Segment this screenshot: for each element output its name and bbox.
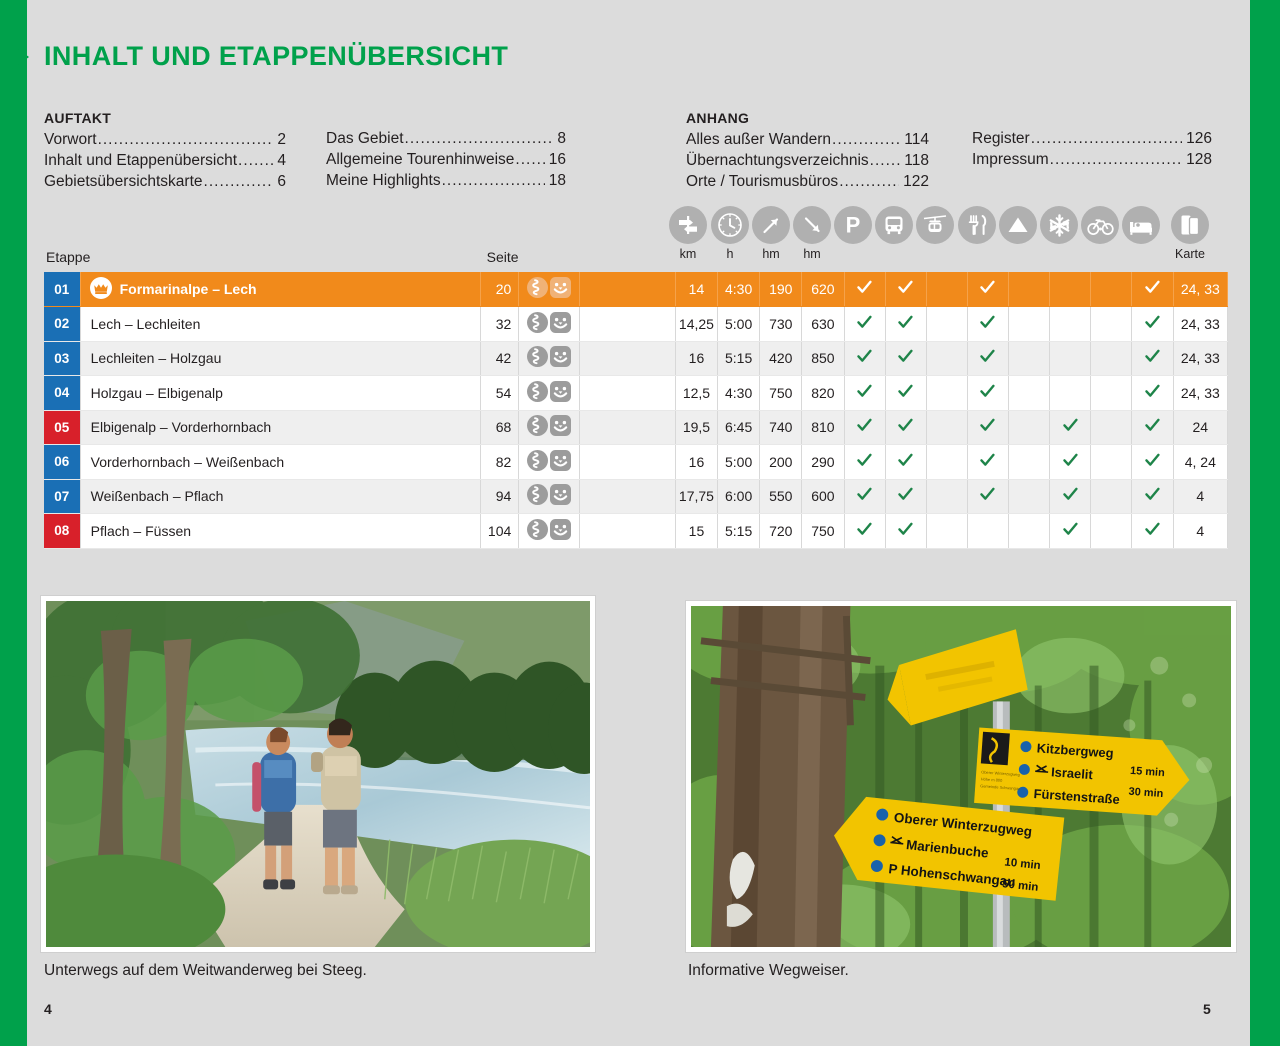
toc-item-page: 8 bbox=[554, 128, 566, 149]
check-icon bbox=[1145, 453, 1160, 468]
winding-path-icon bbox=[527, 381, 548, 405]
availability-restaurant bbox=[967, 341, 1008, 376]
stage-page-number: 20 bbox=[481, 272, 519, 307]
stage-symbols-cell bbox=[519, 410, 579, 445]
toc-leader-dots: ........................................… bbox=[204, 171, 274, 192]
stage-name-label: Elbigenalp – Vorderhornbach bbox=[91, 419, 272, 435]
photo-caption-left: Unterwegs auf dem Weitwanderweg bei Stee… bbox=[44, 962, 367, 980]
check-icon bbox=[980, 280, 995, 295]
toc-leader-dots: ........................................… bbox=[839, 171, 899, 192]
toc-item: Meine Highlights........................… bbox=[326, 170, 566, 191]
availability-bicycle bbox=[1091, 272, 1132, 307]
empty-spacer-cell bbox=[579, 272, 675, 307]
map-reference-value: 24, 33 bbox=[1173, 341, 1227, 376]
availability-bed bbox=[1132, 307, 1173, 342]
stage-name-cell[interactable]: Formarinalpe – Lech bbox=[80, 272, 481, 307]
toc-leader-dots: ........................................… bbox=[1031, 128, 1182, 149]
bicycle-icon bbox=[1081, 206, 1119, 244]
descent-hm-value: 850 bbox=[802, 341, 844, 376]
availability-restaurant bbox=[967, 479, 1008, 514]
map-reference-value: 4, 24 bbox=[1173, 445, 1227, 480]
stage-number-badge: 02 bbox=[44, 307, 80, 342]
toc-item-label[interactable]: Inhalt und Etappenübersicht bbox=[44, 150, 237, 171]
stage-symbols-cell bbox=[519, 341, 579, 376]
ascent-hm-value: 550 bbox=[760, 479, 802, 514]
stage-symbols-cell bbox=[519, 307, 579, 342]
toc-item: Vorwort.................................… bbox=[44, 129, 286, 150]
stage-name-cell[interactable]: Vorderhornbach – Weißenbach bbox=[80, 445, 481, 480]
toc-item-label[interactable]: Impressum bbox=[972, 149, 1049, 170]
stage-name-cell[interactable]: Elbigenalp – Vorderhornbach bbox=[80, 410, 481, 445]
availability-parking bbox=[844, 341, 885, 376]
check-icon bbox=[898, 453, 913, 468]
family-friendly-smiley-icon bbox=[550, 277, 571, 301]
table-header-row: Etappe Seite bbox=[44, 240, 1228, 272]
toc-auftakt-column-2: Das Gebiet..............................… bbox=[326, 128, 566, 191]
table-row[interactable]: 02Lech – Lechleiten3214,255:0073063024, … bbox=[44, 307, 1228, 342]
crown-badge-icon bbox=[90, 277, 112, 302]
stage-page-number: 104 bbox=[481, 514, 519, 549]
distance-km-value: 19,5 bbox=[675, 410, 717, 445]
toc-item-label[interactable]: Orte / Tourismusbüros bbox=[686, 171, 838, 192]
availability-bus bbox=[885, 479, 926, 514]
legend-cell-restaurant bbox=[956, 206, 998, 244]
toc-item-label[interactable]: Register bbox=[972, 128, 1030, 149]
toc-item-page: 6 bbox=[274, 171, 286, 192]
availability-bicycle bbox=[1091, 514, 1132, 549]
check-icon bbox=[980, 315, 995, 330]
check-icon bbox=[898, 418, 913, 433]
table-row[interactable]: 04Holzgau – Elbigenalp5412,54:3075082024… bbox=[44, 376, 1228, 411]
distance-km-value: 14,25 bbox=[675, 307, 717, 342]
toc-item-page: 126 bbox=[1183, 128, 1212, 149]
stage-number-badge: 04 bbox=[44, 376, 80, 411]
stage-name-cell[interactable]: Lech – Lechleiten bbox=[80, 307, 481, 342]
check-icon bbox=[980, 453, 995, 468]
availability-mountain-hut bbox=[1009, 376, 1050, 411]
availability-bed bbox=[1132, 514, 1173, 549]
check-icon bbox=[980, 418, 995, 433]
empty-spacer-cell bbox=[579, 445, 675, 480]
duration-h-value: 5:00 bbox=[718, 307, 760, 342]
toc-leader-dots: ........................................… bbox=[442, 170, 545, 191]
stage-page-number: 94 bbox=[481, 479, 519, 514]
family-friendly-smiley-icon bbox=[550, 519, 571, 543]
winding-path-icon bbox=[527, 346, 548, 370]
empty-spacer-cell bbox=[579, 376, 675, 411]
check-icon bbox=[1145, 349, 1160, 364]
availability-bed bbox=[1132, 272, 1173, 307]
check-icon bbox=[857, 349, 872, 364]
toc-auftakt-column-1: AUFTAKT Vorwort.........................… bbox=[44, 110, 286, 192]
descent-hm-value: 810 bbox=[802, 410, 844, 445]
descent-hm-value: 620 bbox=[802, 272, 844, 307]
availability-mountain-hut bbox=[1009, 410, 1050, 445]
stage-overview-table: Etappe Seite 01Formarinalpe – Lech20144:… bbox=[44, 240, 1228, 549]
table-row[interactable]: 05Elbigenalp – Vorderhornbach6819,56:457… bbox=[44, 410, 1228, 445]
availability-cable-car bbox=[926, 479, 967, 514]
descent-hm-value: 600 bbox=[802, 479, 844, 514]
availability-bicycle bbox=[1091, 410, 1132, 445]
availability-bed bbox=[1132, 376, 1173, 411]
availability-bed bbox=[1132, 479, 1173, 514]
toc-item-page: 2 bbox=[274, 129, 286, 150]
map-reference-value: 4 bbox=[1173, 479, 1227, 514]
availability-bus bbox=[885, 445, 926, 480]
check-icon bbox=[1145, 487, 1160, 502]
legend-cell-mountain-hut bbox=[997, 206, 1039, 244]
availability-bus bbox=[885, 341, 926, 376]
availability-restaurant bbox=[967, 272, 1008, 307]
toc-item: Allgemeine Tourenhinweise...............… bbox=[326, 149, 566, 170]
toc-item: Register................................… bbox=[972, 128, 1212, 149]
stage-name-label: Lech – Lechleiten bbox=[91, 316, 201, 332]
duration-h-value: 6:00 bbox=[718, 479, 760, 514]
check-icon bbox=[980, 384, 995, 399]
toc-anhang-column-2: Register................................… bbox=[972, 128, 1212, 170]
title-arrow-icon bbox=[11, 44, 29, 70]
availability-bicycle bbox=[1091, 341, 1132, 376]
bus-icon bbox=[875, 206, 913, 244]
toc-item: Impressum...............................… bbox=[972, 149, 1212, 170]
winding-path-icon bbox=[527, 312, 548, 336]
toc-item-page: 114 bbox=[901, 129, 929, 150]
toc-item-label[interactable]: Gebietsübersichtskarte bbox=[44, 171, 203, 192]
availability-bicycle bbox=[1091, 376, 1132, 411]
availability-restaurant bbox=[967, 445, 1008, 480]
availability-snowflake bbox=[1050, 445, 1091, 480]
availability-bus bbox=[885, 376, 926, 411]
descent-hm-value: 630 bbox=[802, 307, 844, 342]
availability-mountain-hut bbox=[1009, 341, 1050, 376]
stage-symbols-cell bbox=[519, 376, 579, 411]
stage-name-cell[interactable]: Weißenbach – Pflach bbox=[80, 479, 481, 514]
availability-restaurant bbox=[967, 410, 1008, 445]
check-icon bbox=[857, 418, 872, 433]
stage-number-badge: 07 bbox=[44, 479, 80, 514]
legend-cell-bus bbox=[873, 206, 915, 244]
check-icon bbox=[857, 487, 872, 502]
page-title: INHALT UND ETAPPENÜBERSICHT bbox=[44, 41, 508, 72]
stage-page-number: 68 bbox=[481, 410, 519, 445]
duration-h-value: 6:45 bbox=[718, 410, 760, 445]
availability-bed bbox=[1132, 410, 1173, 445]
stage-name-cell[interactable]: Holzgau – Elbigenalp bbox=[80, 376, 481, 411]
check-icon bbox=[1145, 315, 1160, 330]
check-icon bbox=[1145, 280, 1160, 295]
toc-item-label[interactable]: Vorwort bbox=[44, 129, 97, 150]
check-icon bbox=[857, 384, 872, 399]
availability-bus bbox=[885, 307, 926, 342]
distance-km-value: 14 bbox=[675, 272, 717, 307]
availability-bed bbox=[1132, 445, 1173, 480]
stage-name-cell[interactable]: Lechleiten – Holzgau bbox=[80, 341, 481, 376]
legend-cell-snowflake bbox=[1038, 206, 1080, 244]
check-icon bbox=[980, 349, 995, 364]
right-green-bar bbox=[1250, 0, 1280, 1046]
availability-restaurant bbox=[967, 514, 1008, 549]
toc-anhang-column-1: ANHANG Alles außer Wandern..............… bbox=[686, 110, 929, 192]
toc-leader-dots: ........................................… bbox=[832, 129, 900, 150]
check-icon bbox=[857, 280, 872, 295]
stage-page-number: 42 bbox=[481, 341, 519, 376]
family-friendly-smiley-icon bbox=[550, 381, 571, 405]
stage-number-badge: 05 bbox=[44, 410, 80, 445]
family-friendly-smiley-icon bbox=[550, 415, 571, 439]
stage-name-label: Lechleiten – Holzgau bbox=[91, 350, 222, 366]
stage-page-number: 32 bbox=[481, 307, 519, 342]
availability-bicycle bbox=[1091, 307, 1132, 342]
availability-parking bbox=[844, 272, 885, 307]
duration-h-value: 5:00 bbox=[718, 445, 760, 480]
check-icon bbox=[898, 522, 913, 537]
toc-item: Das Gebiet..............................… bbox=[326, 128, 566, 149]
ascent-hm-value: 730 bbox=[760, 307, 802, 342]
family-friendly-smiley-icon bbox=[550, 484, 571, 508]
availability-restaurant bbox=[967, 376, 1008, 411]
stage-symbols-cell bbox=[519, 445, 579, 480]
availability-mountain-hut bbox=[1009, 307, 1050, 342]
descent-hm-value: 750 bbox=[802, 514, 844, 549]
table-body: 01Formarinalpe – Lech20144:3019062024, 3… bbox=[44, 272, 1228, 548]
availability-mountain-hut bbox=[1009, 445, 1050, 480]
stage-name-label: Weißenbach – Pflach bbox=[91, 488, 224, 504]
toc-leader-dots: ........................................… bbox=[1050, 149, 1182, 170]
empty-spacer-cell bbox=[579, 341, 675, 376]
availability-snowflake bbox=[1050, 341, 1091, 376]
toc-item-page: 118 bbox=[901, 150, 929, 171]
signpost-icon bbox=[669, 206, 707, 244]
photo-caption-right: Informative Wegweiser. bbox=[688, 962, 849, 980]
svg-text:15 min: 15 min bbox=[1130, 765, 1165, 779]
check-icon bbox=[1063, 418, 1078, 433]
empty-spacer-cell bbox=[579, 479, 675, 514]
duration-h-value: 4:30 bbox=[718, 376, 760, 411]
map-reference-value: 24, 33 bbox=[1173, 376, 1227, 411]
availability-cable-car bbox=[926, 272, 967, 307]
toc-item-page: 122 bbox=[900, 171, 929, 192]
toc-item: Inhalt und Etappenübersicht.............… bbox=[44, 150, 286, 171]
check-icon bbox=[1063, 453, 1078, 468]
check-icon bbox=[1063, 487, 1078, 502]
winding-path-icon bbox=[527, 484, 548, 508]
toc-item-page: 16 bbox=[546, 149, 566, 170]
map-icon bbox=[1171, 206, 1209, 244]
distance-km-value: 15 bbox=[675, 514, 717, 549]
availability-mountain-hut bbox=[1009, 272, 1050, 307]
page-number-right: 5 bbox=[1203, 1001, 1211, 1017]
duration-h-value: 5:15 bbox=[718, 341, 760, 376]
distance-km-value: 17,75 bbox=[675, 479, 717, 514]
availability-bus bbox=[885, 272, 926, 307]
family-friendly-smiley-icon bbox=[550, 450, 571, 474]
ascent-hm-value: 750 bbox=[760, 376, 802, 411]
availability-bus bbox=[885, 514, 926, 549]
stage-number-badge: 03 bbox=[44, 341, 80, 376]
table-row[interactable]: 06Vorderhornbach – Weißenbach82165:00200… bbox=[44, 445, 1228, 480]
photo-yellow-signposts: Kitzbergweg Israelit Fürstenstraße 15 mi… bbox=[691, 606, 1231, 947]
svg-text:30 min: 30 min bbox=[1128, 786, 1163, 800]
availability-cable-car bbox=[926, 514, 967, 549]
availability-bicycle bbox=[1091, 479, 1132, 514]
distance-km-value: 16 bbox=[675, 445, 717, 480]
header-etappe: Etappe bbox=[44, 240, 481, 272]
toc-item: Orte / Tourismusbüros...................… bbox=[686, 171, 929, 192]
stage-page-number: 82 bbox=[481, 445, 519, 480]
parking-icon: P bbox=[834, 206, 872, 244]
availability-cable-car bbox=[926, 307, 967, 342]
check-icon bbox=[1063, 522, 1078, 537]
availability-snowflake bbox=[1050, 307, 1091, 342]
toc-item-page: 4 bbox=[274, 150, 286, 171]
toc-item-label[interactable]: Das Gebiet bbox=[326, 128, 404, 149]
check-icon bbox=[1145, 384, 1160, 399]
distance-km-value: 12,5 bbox=[675, 376, 717, 411]
legend-cell-bicycle bbox=[1079, 206, 1121, 244]
winding-path-icon bbox=[527, 415, 548, 439]
family-friendly-smiley-icon bbox=[550, 312, 571, 336]
check-icon bbox=[898, 280, 913, 295]
toc-auftakt-heading: AUFTAKT bbox=[44, 110, 286, 126]
cable-car-icon bbox=[916, 206, 954, 244]
toc-item-label[interactable]: Meine Highlights bbox=[326, 170, 441, 191]
toc-item-label[interactable]: Übernachtungsverzeichnis bbox=[686, 150, 869, 171]
availability-parking bbox=[844, 514, 885, 549]
duration-h-value: 4:30 bbox=[718, 272, 760, 307]
left-green-bar bbox=[0, 0, 27, 1046]
descent-hm-value: 820 bbox=[802, 376, 844, 411]
legend-cell-cable-car bbox=[914, 206, 956, 244]
availability-parking bbox=[844, 410, 885, 445]
toc-item: Gebietsübersichtskarte..................… bbox=[44, 171, 286, 192]
stage-symbols-cell bbox=[519, 272, 579, 307]
stage-name-label: Formarinalpe – Lech bbox=[120, 281, 257, 297]
check-icon bbox=[980, 487, 995, 502]
empty-spacer-cell bbox=[579, 514, 675, 549]
availability-snowflake bbox=[1050, 272, 1091, 307]
toc-leader-dots: ........................................… bbox=[238, 150, 273, 171]
toc-leader-dots: ........................................… bbox=[870, 150, 901, 171]
family-friendly-smiley-icon bbox=[550, 346, 571, 370]
restaurant-icon bbox=[958, 206, 996, 244]
stage-name-label: Vorderhornbach – Weißenbach bbox=[91, 454, 285, 470]
availability-bed bbox=[1132, 341, 1173, 376]
check-icon bbox=[898, 349, 913, 364]
photo-frame-right: Kitzbergweg Israelit Fürstenstraße 15 mi… bbox=[685, 600, 1237, 953]
ascent-hm-value: 200 bbox=[760, 445, 802, 480]
toc-leader-dots: ........................................… bbox=[405, 128, 554, 149]
bed-icon bbox=[1122, 206, 1160, 244]
photo-hikers-riverside bbox=[46, 601, 590, 947]
stage-name-label: Pflach – Füssen bbox=[91, 523, 191, 539]
table-row[interactable]: 03Lechleiten – Holzgau42165:1542085024, … bbox=[44, 341, 1228, 376]
header-seite: Seite bbox=[481, 240, 579, 272]
stage-symbols-cell bbox=[519, 514, 579, 549]
toc-item-page: 128 bbox=[1183, 149, 1212, 170]
availability-snowflake bbox=[1050, 376, 1091, 411]
winding-path-icon bbox=[527, 450, 548, 474]
availability-parking bbox=[844, 479, 885, 514]
map-reference-value: 4 bbox=[1173, 514, 1227, 549]
arrow-down-icon bbox=[793, 206, 831, 244]
check-icon bbox=[857, 522, 872, 537]
empty-spacer-cell bbox=[579, 307, 675, 342]
availability-bicycle bbox=[1091, 445, 1132, 480]
distance-km-value: 16 bbox=[675, 341, 717, 376]
availability-mountain-hut bbox=[1009, 479, 1050, 514]
check-icon bbox=[898, 315, 913, 330]
toc-item: Alles außer Wandern.....................… bbox=[686, 129, 929, 150]
snowflake-icon bbox=[1040, 206, 1078, 244]
svg-text:Israelit: Israelit bbox=[1051, 764, 1094, 782]
availability-parking bbox=[844, 445, 885, 480]
toc-item-page: 18 bbox=[546, 170, 566, 191]
clock-icon bbox=[711, 206, 749, 244]
table-row[interactable]: 08Pflach – Füssen104155:157207504 bbox=[44, 514, 1228, 549]
availability-snowflake bbox=[1050, 479, 1091, 514]
arrow-up-icon bbox=[752, 206, 790, 244]
map-reference-value: 24 bbox=[1173, 410, 1227, 445]
mountain-hut-icon bbox=[999, 206, 1037, 244]
toc-anhang-heading: ANHANG bbox=[686, 110, 929, 126]
table-row[interactable]: 01Formarinalpe – Lech20144:3019062024, 3… bbox=[44, 272, 1228, 307]
availability-cable-car bbox=[926, 376, 967, 411]
empty-spacer-cell bbox=[579, 410, 675, 445]
availability-snowflake bbox=[1050, 514, 1091, 549]
check-icon bbox=[857, 453, 872, 468]
toc-item-label[interactable]: Allgemeine Tourenhinweise bbox=[326, 149, 514, 170]
stage-number-badge: 06 bbox=[44, 445, 80, 480]
toc-leader-dots: ........................................… bbox=[98, 129, 274, 150]
check-icon bbox=[898, 487, 913, 502]
stage-symbols-cell bbox=[519, 479, 579, 514]
stage-page-number: 54 bbox=[481, 376, 519, 411]
winding-path-icon bbox=[527, 277, 548, 301]
check-icon bbox=[898, 384, 913, 399]
legend-cell-bed bbox=[1120, 206, 1162, 244]
check-icon bbox=[1145, 522, 1160, 537]
check-icon bbox=[1145, 418, 1160, 433]
availability-snowflake bbox=[1050, 410, 1091, 445]
stage-number-badge: 08 bbox=[44, 514, 80, 549]
legend-cell-parking: P bbox=[832, 206, 874, 244]
availability-parking bbox=[844, 307, 885, 342]
svg-text:P: P bbox=[846, 213, 861, 238]
map-reference-value: 24, 33 bbox=[1173, 307, 1227, 342]
availability-cable-car bbox=[926, 445, 967, 480]
winding-path-icon bbox=[527, 519, 548, 543]
ascent-hm-value: 420 bbox=[760, 341, 802, 376]
availability-restaurant bbox=[967, 307, 1008, 342]
ascent-hm-value: 740 bbox=[760, 410, 802, 445]
ascent-hm-value: 720 bbox=[760, 514, 802, 549]
table-row[interactable]: 07Weißenbach – Pflach9417,756:005506004 bbox=[44, 479, 1228, 514]
stage-name-cell[interactable]: Pflach – Füssen bbox=[80, 514, 481, 549]
availability-cable-car bbox=[926, 341, 967, 376]
toc-leader-dots: ........................................… bbox=[515, 149, 544, 170]
duration-h-value: 5:15 bbox=[718, 514, 760, 549]
toc-item: Übernachtungsverzeichnis................… bbox=[686, 150, 929, 171]
stage-name-label: Holzgau – Elbigenalp bbox=[91, 385, 223, 401]
stage-number-badge: 01 bbox=[44, 272, 80, 307]
check-icon bbox=[857, 315, 872, 330]
availability-mountain-hut bbox=[1009, 514, 1050, 549]
availability-bus bbox=[885, 410, 926, 445]
page-number-left: 4 bbox=[44, 1001, 52, 1017]
toc-item-label[interactable]: Alles außer Wandern bbox=[686, 129, 831, 150]
photo-frame-left bbox=[40, 595, 596, 953]
descent-hm-value: 290 bbox=[802, 445, 844, 480]
